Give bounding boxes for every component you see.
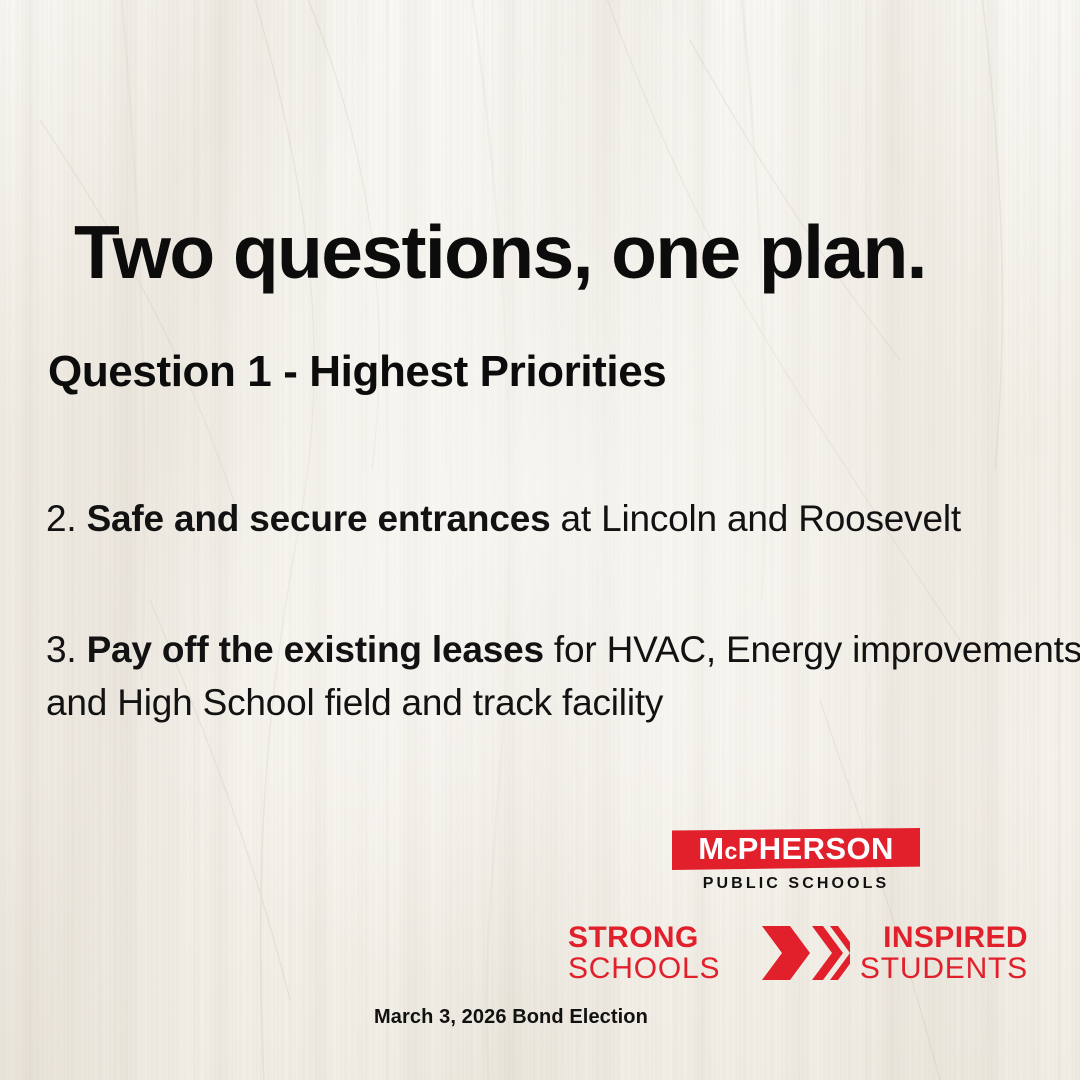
logo-district-name: McPHERSON [672, 832, 920, 868]
list-item: 2. Safe and secure entrances at Lincoln … [46, 492, 1080, 545]
election-date: March 3, 2026 Bond Election [0, 1006, 1080, 1029]
tagline-inspired-word: INSPIRED [850, 922, 1028, 953]
tagline-students-word: STUDENTS [850, 953, 1028, 984]
tagline-schools-word: SCHOOLS [568, 953, 746, 984]
logo-district-rest: PHERSON [738, 831, 894, 866]
logo-district-c: c [724, 838, 737, 864]
list-item-text: at Lincoln and Roosevelt [550, 498, 961, 539]
tagline-strong-word: STRONG [568, 922, 746, 953]
page-title: Two questions, one plan. [74, 209, 926, 295]
campaign-tagline: STRONG SCHOOLS INSPIRED STUDENTS [568, 922, 1028, 984]
list-item: 3. Pay off the existing leases for HVAC,… [46, 623, 1080, 729]
slide-content: Two questions, one plan. Question 1 - Hi… [0, 0, 1080, 1080]
list-item-number: 3. [46, 629, 76, 670]
bond-election-slide: Two questions, one plan. Question 1 - Hi… [0, 0, 1080, 1080]
logo-district-prefix: M [698, 831, 724, 866]
tagline-right: INSPIRED STUDENTS [850, 922, 1028, 984]
tagline-left: STRONG SCHOOLS [568, 922, 746, 984]
list-item-emphasis: Safe and secure entrances [87, 498, 551, 539]
list-item-emphasis: Pay off the existing leases [87, 629, 544, 670]
priority-list: 2. Safe and secure entrances at Lincoln … [46, 492, 1080, 729]
chevron-right-icon [760, 924, 850, 982]
branding-block: McPHERSON PUBLIC SCHOOLS STRONG SCHOOLS … [0, 826, 1080, 900]
mcpherson-public-schools-logo: McPHERSON PUBLIC SCHOOLS [0, 826, 1080, 900]
question-heading: Question 1 - Highest Priorities [48, 347, 666, 397]
list-item-number: 2. [46, 498, 76, 539]
logo-subtitle: PUBLIC SCHOOLS [672, 875, 920, 893]
